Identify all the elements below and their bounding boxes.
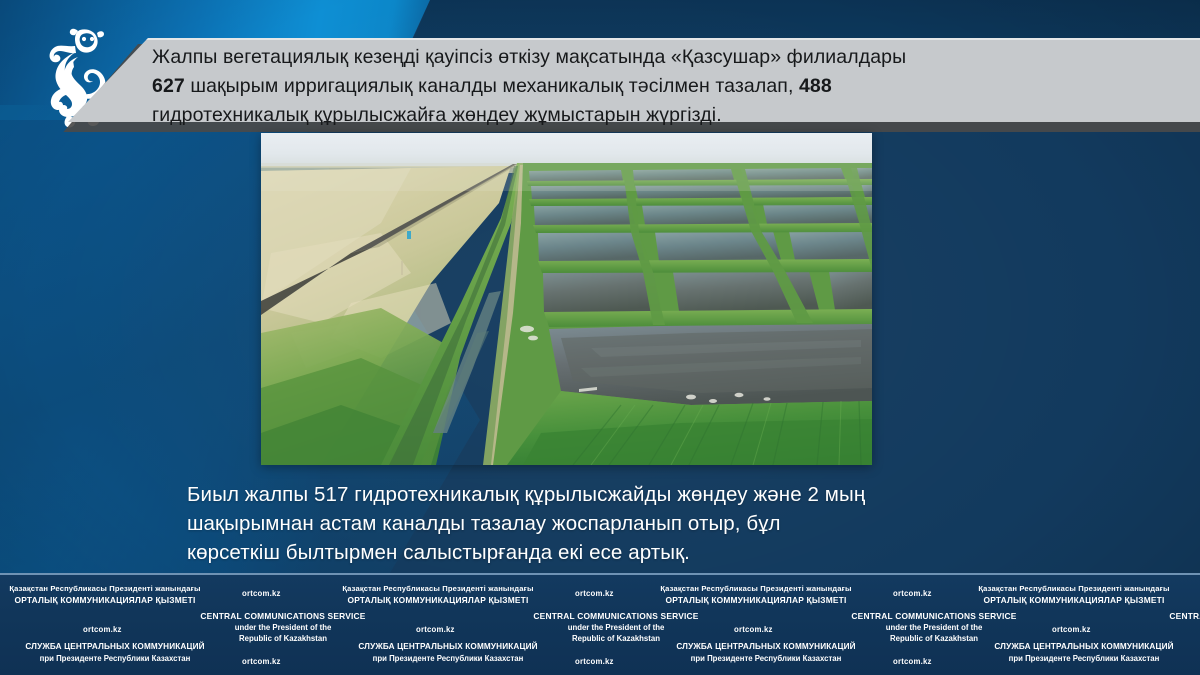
watermark-url: ortcom.kz (575, 657, 614, 666)
watermark-url: ortcom.kz (734, 625, 773, 634)
header-line-3: гидротехникалық құрылысжайға жөндеу жұмы… (152, 101, 1162, 130)
watermark-kazakh: Қазақстан Республикасы Президенті жанынд… (959, 583, 1189, 606)
watermark-kazakh-line-2: ОРТАЛЫҚ КОММУНИКАЦИЯЛАР ҚЫЗМЕТІ (323, 594, 553, 606)
watermark-russian-line-2: при Президенте Республики Казахстан (333, 653, 563, 664)
header-banner-region: Жалпы вегетациялық кезеңді қауіпсіз өткі… (0, 0, 1200, 132)
watermark-kazakh-line-1: Қазақстан Республикасы Президенті жанынд… (959, 583, 1189, 594)
watermark-url: ortcom.kz (416, 625, 455, 634)
watermark-url: ortcom.kz (242, 657, 281, 666)
watermark-russian-line-2: при Президенте Республики Казахстан (651, 653, 881, 664)
caption-line-2: шақырымнан астам каналды тазалау жоспарл… (187, 509, 1087, 538)
watermark-unit: Қазақстан Республикасы Президенті жанынд… (323, 575, 656, 675)
watermark-russian-line-1: СЛУЖБА ЦЕНТРАЛЬНЫХ КОММУНИКАЦИЙ (969, 641, 1199, 653)
watermark-url: ortcom.kz (83, 625, 122, 634)
watermark-kazakh-line-2: ОРТАЛЫҚ КОММУНИКАЦИЯЛАР ҚЫЗМЕТІ (641, 594, 871, 606)
watermark-url: ortcom.kz (1052, 625, 1091, 634)
watermark-russian: СЛУЖБА ЦЕНТРАЛЬНЫХ КОММУНИКАЦИЙ при През… (969, 641, 1199, 664)
watermark-url: ortcom.kz (242, 589, 281, 598)
caption-line-3: көрсеткіш былтырмен салыстырғанда екі ес… (187, 538, 1087, 567)
watermark-kazakh: Қазақстан Республикасы Президенті жанынд… (0, 583, 220, 606)
watermark-kazakh-line-1: Қазақстан Республикасы Президенті жанынд… (323, 583, 553, 594)
caption-line-1: Биыл жалпы 517 гидротехникалық құрылысжа… (187, 480, 1087, 509)
watermark-english: CENTRAL COMMUNICATIONS SERVICE under the… (1127, 610, 1200, 644)
caption-text: Биыл жалпы 517 гидротехникалық құрылысжа… (187, 480, 1087, 567)
aerial-rice-paddy-photo (261, 133, 872, 465)
watermark-russian-line-1: СЛУЖБА ЦЕНТРАЛЬНЫХ КОММУНИКАЦИЙ (0, 641, 230, 653)
watermark-english-line-2: under the President of the (1127, 622, 1200, 633)
watermark-kazakh: Қазақстан Республикасы Президенті жанынд… (323, 583, 553, 606)
watermark-russian-line-2: при Президенте Республики Казахстан (969, 653, 1199, 664)
slide-canvas: Жалпы вегетациялық кезеңді қауіпсіз өткі… (0, 0, 1200, 675)
watermark-unit: Қазақстан Республикасы Президенті жанынд… (641, 575, 974, 675)
watermark-english-line-1: CENTRAL COMMUNICATIONS SERVICE (1127, 610, 1200, 622)
watermark-unit: Қазақстан Республикасы Президенті жанынд… (0, 575, 323, 675)
watermark-russian: СЛУЖБА ЦЕНТРАЛЬНЫХ КОММУНИКАЦИЙ при През… (651, 641, 881, 664)
header-banner-highlight (68, 38, 1200, 40)
footer-watermark-strip: Қазақстан Республикасы Президенті жанынд… (0, 573, 1200, 675)
header-line-1: Жалпы вегетациялық кезеңді қауіпсіз өткі… (152, 43, 1162, 72)
watermark-url: ortcom.kz (893, 657, 932, 666)
header-value-488: 488 (799, 75, 832, 97)
watermark-url: ortcom.kz (575, 589, 614, 598)
header-line-2-mid: шақырым ирригациялық каналды механикалық… (185, 75, 799, 97)
header-line-2: 627 шақырым ирригациялық каналды механик… (152, 72, 1162, 101)
watermark-url: ortcom.kz (893, 589, 932, 598)
header-value-627: 627 (152, 75, 185, 97)
header-text: Жалпы вегетациялық кезеңді қауіпсіз өткі… (152, 43, 1162, 130)
watermark-unit: Қазақстан Республикасы Президенті жанынд… (959, 575, 1200, 675)
watermark-russian: СЛУЖБА ЦЕНТРАЛЬНЫХ КОММУНИКАЦИЙ при През… (333, 641, 563, 664)
watermark-russian-line-2: при Президенте Республики Казахстан (0, 653, 230, 664)
watermark-kazakh-line-2: ОРТАЛЫҚ КОММУНИКАЦИЯЛАР ҚЫЗМЕТІ (959, 594, 1189, 606)
watermark-russian-line-1: СЛУЖБА ЦЕНТРАЛЬНЫХ КОММУНИКАЦИЙ (651, 641, 881, 653)
watermark-kazakh-line-2: ОРТАЛЫҚ КОММУНИКАЦИЯЛАР ҚЫЗМЕТІ (0, 594, 220, 606)
watermark-russian: СЛУЖБА ЦЕНТРАЛЬНЫХ КОММУНИКАЦИЙ при През… (0, 641, 230, 664)
watermark-kazakh-line-1: Қазақстан Республикасы Президенті жанынд… (0, 583, 220, 594)
watermark-russian-line-1: СЛУЖБА ЦЕНТРАЛЬНЫХ КОММУНИКАЦИЙ (333, 641, 563, 653)
watermark-kazakh: Қазақстан Республикасы Президенті жанынд… (641, 583, 871, 606)
watermark-kazakh-line-1: Қазақстан Республикасы Президенті жанынд… (641, 583, 871, 594)
